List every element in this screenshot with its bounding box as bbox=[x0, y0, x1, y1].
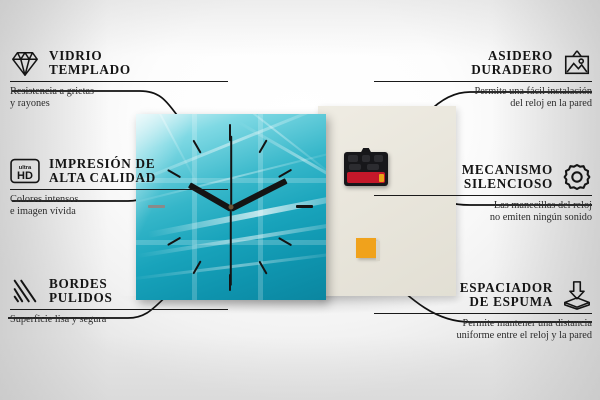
feature-title-line2: DURADERO bbox=[471, 63, 553, 78]
feature-header: ultra HD IMPRESIÓN DE ALTA CALIDAD bbox=[10, 156, 228, 186]
diamond-icon bbox=[10, 48, 40, 78]
feature-espaciador-de-espuma: ESPACIADOR DE ESPUMA Permite mantener un… bbox=[374, 280, 592, 342]
infographic-canvas: VIDRIO TEMPLADO Resistencia a grietas y … bbox=[0, 0, 600, 400]
ultra-hd-icon: ultra HD bbox=[10, 156, 40, 186]
feature-title-line1: VIDRIO bbox=[49, 48, 102, 63]
feature-divider bbox=[10, 309, 228, 310]
hour-marker bbox=[278, 169, 292, 179]
feature-desc-line2: no emiten ningún sonido bbox=[374, 212, 592, 224]
feature-title-line1: ASIDERO bbox=[488, 48, 553, 63]
feature-desc-line1: Las manecillas del reloj bbox=[494, 200, 592, 211]
feature-description: Superficie lisa y segura bbox=[10, 314, 228, 326]
feature-header: ESPACIADOR DE ESPUMA bbox=[374, 280, 592, 310]
feature-title-line2: PULIDOS bbox=[49, 291, 113, 306]
feature-desc-line1: Permite mantener una distancia bbox=[462, 318, 592, 329]
movement-detail bbox=[374, 155, 383, 162]
foam-spacer-side bbox=[376, 241, 380, 261]
feature-divider bbox=[10, 189, 228, 190]
feature-header: MECANISMO SILENCIOSO bbox=[374, 162, 592, 192]
feature-desc-line2: del reloj en la pared bbox=[374, 98, 592, 110]
feature-description: Las manecillas del reloj no emiten ningú… bbox=[374, 200, 592, 224]
feature-title-line2: DE ESPUMA bbox=[460, 295, 553, 310]
feature-desc-line2: uniforme entre el reloj y la pared bbox=[374, 330, 592, 342]
feature-title-line1: IMPRESIÓN DE bbox=[49, 156, 155, 171]
feature-header: VIDRIO TEMPLADO bbox=[10, 48, 228, 78]
hour-marker bbox=[296, 205, 313, 208]
feature-title-line2: ALTA CALIDAD bbox=[49, 171, 156, 186]
feature-title: MECANISMO SILENCIOSO bbox=[462, 163, 553, 192]
feature-divider bbox=[374, 81, 592, 82]
feature-header: BORDES PULIDOS bbox=[10, 276, 228, 306]
foam-spacer-icon bbox=[562, 280, 592, 310]
feature-vidrio-templado: VIDRIO TEMPLADO Resistencia a grietas y … bbox=[10, 48, 228, 110]
movement-detail bbox=[349, 164, 361, 170]
feature-desc-line1: Permite una fácil instalación bbox=[474, 86, 592, 97]
feature-desc-line2: e imagen vívida bbox=[10, 206, 228, 218]
feature-title-line2: SILENCIOSO bbox=[462, 177, 553, 192]
second-hand bbox=[230, 208, 232, 286]
feature-desc-line2: y rayones bbox=[10, 98, 228, 110]
feature-divider bbox=[374, 313, 592, 314]
feature-description: Permite una fácil instalación del reloj … bbox=[374, 86, 592, 110]
feature-divider bbox=[374, 195, 592, 196]
feature-description: Permite mantener una distancia uniforme … bbox=[374, 318, 592, 342]
feature-divider bbox=[10, 81, 228, 82]
feature-desc-line1: Resistencia a grietas bbox=[10, 86, 94, 97]
glass-grid-line bbox=[258, 114, 263, 300]
feature-title: ESPACIADOR DE ESPUMA bbox=[460, 281, 553, 310]
feature-mecanismo-silencioso: MECANISMO SILENCIOSO Las manecillas del … bbox=[374, 162, 592, 224]
feature-impresion-alta-calidad: ultra HD IMPRESIÓN DE ALTA CALIDAD Color… bbox=[10, 156, 228, 218]
feature-desc-line1: Superficie lisa y segura bbox=[10, 314, 106, 325]
feature-title-line2: TEMPLADO bbox=[49, 63, 131, 78]
feature-title-line1: BORDES bbox=[49, 276, 107, 291]
clock-hands-hub bbox=[229, 205, 234, 210]
movement-detail bbox=[348, 155, 358, 162]
feature-description: Resistencia a grietas y rayones bbox=[10, 86, 228, 110]
second-hand-tail bbox=[230, 136, 232, 208]
feature-description: Colores intensos e imagen vívida bbox=[10, 194, 228, 218]
feature-bordes-pulidos: BORDES PULIDOS Superficie lisa y segura bbox=[10, 276, 228, 326]
feature-header: ASIDERO DURADERO bbox=[374, 48, 592, 78]
polished-edges-icon bbox=[10, 276, 40, 306]
feature-title-line1: MECANISMO bbox=[462, 162, 553, 177]
gear-icon bbox=[562, 162, 592, 192]
feature-title: ASIDERO DURADERO bbox=[471, 49, 553, 78]
hanging-picture-frame-icon bbox=[562, 48, 592, 78]
feature-asidero-duradero: ASIDERO DURADERO Permite una fácil insta… bbox=[374, 48, 592, 110]
feature-title: BORDES PULIDOS bbox=[49, 277, 113, 306]
foam-spacer bbox=[356, 238, 376, 258]
ultra-hd-icon-big-label: HD bbox=[17, 170, 33, 182]
feature-title: IMPRESIÓN DE ALTA CALIDAD bbox=[49, 157, 156, 186]
movement-detail bbox=[362, 155, 370, 162]
feature-desc-line1: Colores intensos bbox=[10, 194, 78, 205]
feature-title: VIDRIO TEMPLADO bbox=[49, 49, 131, 78]
feature-title-line1: ESPACIADOR bbox=[460, 280, 553, 295]
